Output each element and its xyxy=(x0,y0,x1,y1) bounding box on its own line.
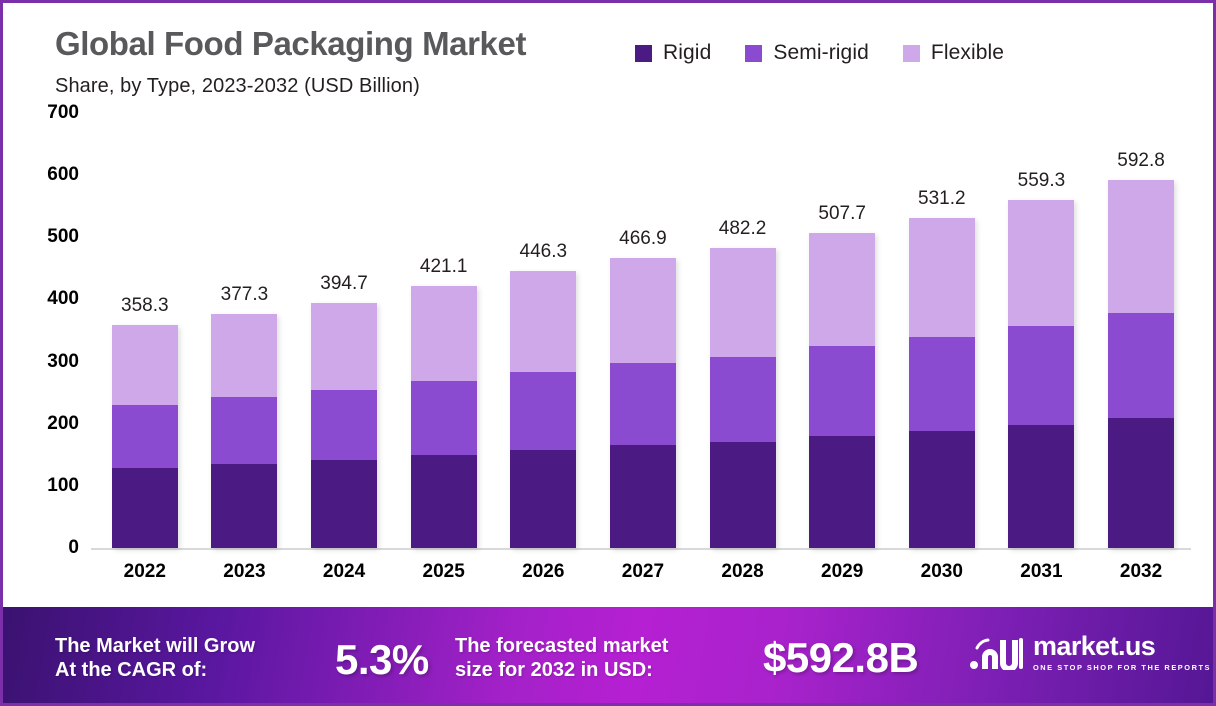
bar-value-label: 592.8 xyxy=(1117,150,1165,172)
x-axis-tick: 2023 xyxy=(195,561,295,601)
y-axis-tick: 500 xyxy=(47,226,79,248)
x-axis-tick: 2026 xyxy=(494,561,594,601)
bar-column[interactable]: 421.1 xyxy=(394,113,494,548)
bar-segment-flexible[interactable] xyxy=(211,314,277,397)
stacked-bar[interactable] xyxy=(112,325,178,548)
bar-column[interactable]: 592.8 xyxy=(1091,113,1191,548)
stacked-bar[interactable] xyxy=(909,218,975,548)
cagr-label-line1: The Market will Grow xyxy=(55,635,255,659)
bar-group: 358.3377.3394.7421.1446.3466.9482.2507.7… xyxy=(95,113,1191,548)
bar-value-label: 358.3 xyxy=(121,295,169,317)
y-axis-tick: 400 xyxy=(47,288,79,310)
market-us-logo-icon xyxy=(969,636,1023,670)
bar-segment-flexible[interactable] xyxy=(909,218,975,337)
chart-plot-area: 0100200300400500600700 358.3377.3394.742… xyxy=(3,113,1213,603)
chart-infographic: Global Food Packaging Market Share, by T… xyxy=(0,0,1216,706)
chart-subtitle: Share, by Type, 2023-2032 (USD Billion) xyxy=(55,75,420,98)
bar-column[interactable]: 358.3 xyxy=(95,113,195,548)
bar-column[interactable]: 482.2 xyxy=(693,113,793,548)
bar-segment-semi-rigid[interactable] xyxy=(510,372,576,450)
forecast-label-line2: size for 2032 in USD: xyxy=(455,659,668,683)
bar-segment-rigid[interactable] xyxy=(510,450,576,548)
bar-segment-flexible[interactable] xyxy=(1108,180,1174,313)
bar-column[interactable]: 559.3 xyxy=(992,113,1092,548)
bar-value-label: 507.7 xyxy=(818,203,866,225)
page-title: Global Food Packaging Market xyxy=(55,25,526,63)
bar-value-label: 559.3 xyxy=(1018,170,1066,192)
logo-tagline: ONE STOP SHOP FOR THE REPORTS xyxy=(1033,663,1211,672)
legend-swatch-icon xyxy=(903,45,920,62)
bar-segment-semi-rigid[interactable] xyxy=(311,390,377,460)
bar-value-label: 482.2 xyxy=(719,218,767,240)
bar-segment-semi-rigid[interactable] xyxy=(211,397,277,464)
x-axis-tick: 2031 xyxy=(992,561,1092,601)
x-axis-tick: 2025 xyxy=(394,561,494,601)
y-axis-tick: 200 xyxy=(47,413,79,435)
forecast-label: The forecasted market size for 2032 in U… xyxy=(455,635,668,682)
bar-value-label: 466.9 xyxy=(619,228,667,250)
legend-item-rigid[interactable]: Rigid xyxy=(635,41,711,65)
x-axis-tick: 2032 xyxy=(1091,561,1191,601)
bar-segment-semi-rigid[interactable] xyxy=(809,346,875,436)
bar-value-label: 446.3 xyxy=(520,241,568,263)
x-axis-tick: 2029 xyxy=(792,561,892,601)
bar-segment-semi-rigid[interactable] xyxy=(909,337,975,431)
bar-segment-flexible[interactable] xyxy=(112,325,178,405)
bar-segment-flexible[interactable] xyxy=(510,271,576,372)
x-axis-tick: 2028 xyxy=(693,561,793,601)
bar-segment-rigid[interactable] xyxy=(112,468,178,548)
stacked-bar[interactable] xyxy=(211,314,277,548)
chart-legend: RigidSemi-rigidFlexible xyxy=(635,41,1004,65)
y-axis-tick: 100 xyxy=(47,475,79,497)
bar-segment-flexible[interactable] xyxy=(311,303,377,390)
y-axis-tick: 300 xyxy=(47,351,79,373)
bar-segment-flexible[interactable] xyxy=(610,258,676,363)
forecast-value: $592.8B xyxy=(763,634,918,682)
stacked-bar[interactable] xyxy=(1108,180,1174,548)
bar-segment-rigid[interactable] xyxy=(710,442,776,548)
bar-segment-rigid[interactable] xyxy=(1008,425,1074,548)
x-axis-line xyxy=(91,548,1191,550)
bar-column[interactable]: 394.7 xyxy=(294,113,394,548)
bar-column[interactable]: 446.3 xyxy=(494,113,594,548)
bar-segment-semi-rigid[interactable] xyxy=(112,405,178,468)
stacked-bar[interactable] xyxy=(510,271,576,548)
bar-column[interactable]: 466.9 xyxy=(593,113,693,548)
stacked-bar[interactable] xyxy=(311,303,377,548)
stacked-bar[interactable] xyxy=(1008,200,1074,548)
bar-segment-semi-rigid[interactable] xyxy=(610,363,676,445)
legend-swatch-icon xyxy=(635,45,652,62)
bar-segment-rigid[interactable] xyxy=(311,460,377,548)
legend-label: Flexible xyxy=(931,41,1004,65)
logo-name: market.us xyxy=(1033,633,1211,660)
cagr-label-line2: At the CAGR of: xyxy=(55,659,255,683)
bar-column[interactable]: 377.3 xyxy=(195,113,295,548)
stacked-bar[interactable] xyxy=(710,248,776,548)
bar-segment-rigid[interactable] xyxy=(610,445,676,548)
bar-value-label: 394.7 xyxy=(320,273,368,295)
legend-item-flexible[interactable]: Flexible xyxy=(903,41,1004,65)
bar-segment-rigid[interactable] xyxy=(809,436,875,548)
bar-segment-flexible[interactable] xyxy=(710,248,776,356)
bar-segment-flexible[interactable] xyxy=(809,233,875,347)
bar-segment-rigid[interactable] xyxy=(211,464,277,548)
bar-value-label: 421.1 xyxy=(420,256,468,278)
forecast-label-line1: The forecasted market xyxy=(455,635,668,659)
stacked-bar[interactable] xyxy=(809,233,875,548)
x-axis-tick: 2022 xyxy=(95,561,195,601)
x-axis: 2022202320242025202620272028202920302031… xyxy=(95,561,1191,601)
bar-segment-rigid[interactable] xyxy=(1108,418,1174,548)
cagr-label: The Market will Grow At the CAGR of: xyxy=(55,635,255,682)
bar-segment-semi-rigid[interactable] xyxy=(411,381,477,456)
bar-segment-flexible[interactable] xyxy=(1008,200,1074,325)
y-axis-tick: 0 xyxy=(68,537,79,559)
bar-column[interactable]: 531.2 xyxy=(892,113,992,548)
legend-swatch-icon xyxy=(745,45,762,62)
bar-segment-flexible[interactable] xyxy=(411,286,477,381)
y-axis-tick: 600 xyxy=(47,164,79,186)
market-us-logo-text: market.us ONE STOP SHOP FOR THE REPORTS xyxy=(1033,633,1211,672)
stacked-bar[interactable] xyxy=(411,286,477,548)
cagr-value: 5.3% xyxy=(335,636,429,684)
y-axis-tick: 700 xyxy=(47,102,79,124)
legend-label: Rigid xyxy=(663,41,711,65)
chart-header: Global Food Packaging Market Share, by T… xyxy=(3,3,1213,113)
bar-segment-semi-rigid[interactable] xyxy=(710,357,776,442)
y-axis: 0100200300400500600700 xyxy=(3,113,91,553)
x-axis-tick: 2030 xyxy=(892,561,992,601)
legend-item-semi-rigid[interactable]: Semi-rigid xyxy=(745,41,869,65)
bar-segment-rigid[interactable] xyxy=(411,455,477,548)
bar-segment-rigid[interactable] xyxy=(909,431,975,548)
summary-banner: The Market will Grow At the CAGR of: 5.3… xyxy=(3,607,1213,703)
legend-label: Semi-rigid xyxy=(773,41,869,65)
bar-value-label: 377.3 xyxy=(221,284,269,306)
bar-column[interactable]: 507.7 xyxy=(792,113,892,548)
bar-value-label: 531.2 xyxy=(918,188,966,210)
bar-segment-semi-rigid[interactable] xyxy=(1008,326,1074,425)
x-axis-tick: 2024 xyxy=(294,561,394,601)
x-axis-tick: 2027 xyxy=(593,561,693,601)
market-us-logo[interactable]: market.us ONE STOP SHOP FOR THE REPORTS xyxy=(969,633,1211,672)
bar-segment-semi-rigid[interactable] xyxy=(1108,313,1174,419)
stacked-bar[interactable] xyxy=(610,258,676,548)
